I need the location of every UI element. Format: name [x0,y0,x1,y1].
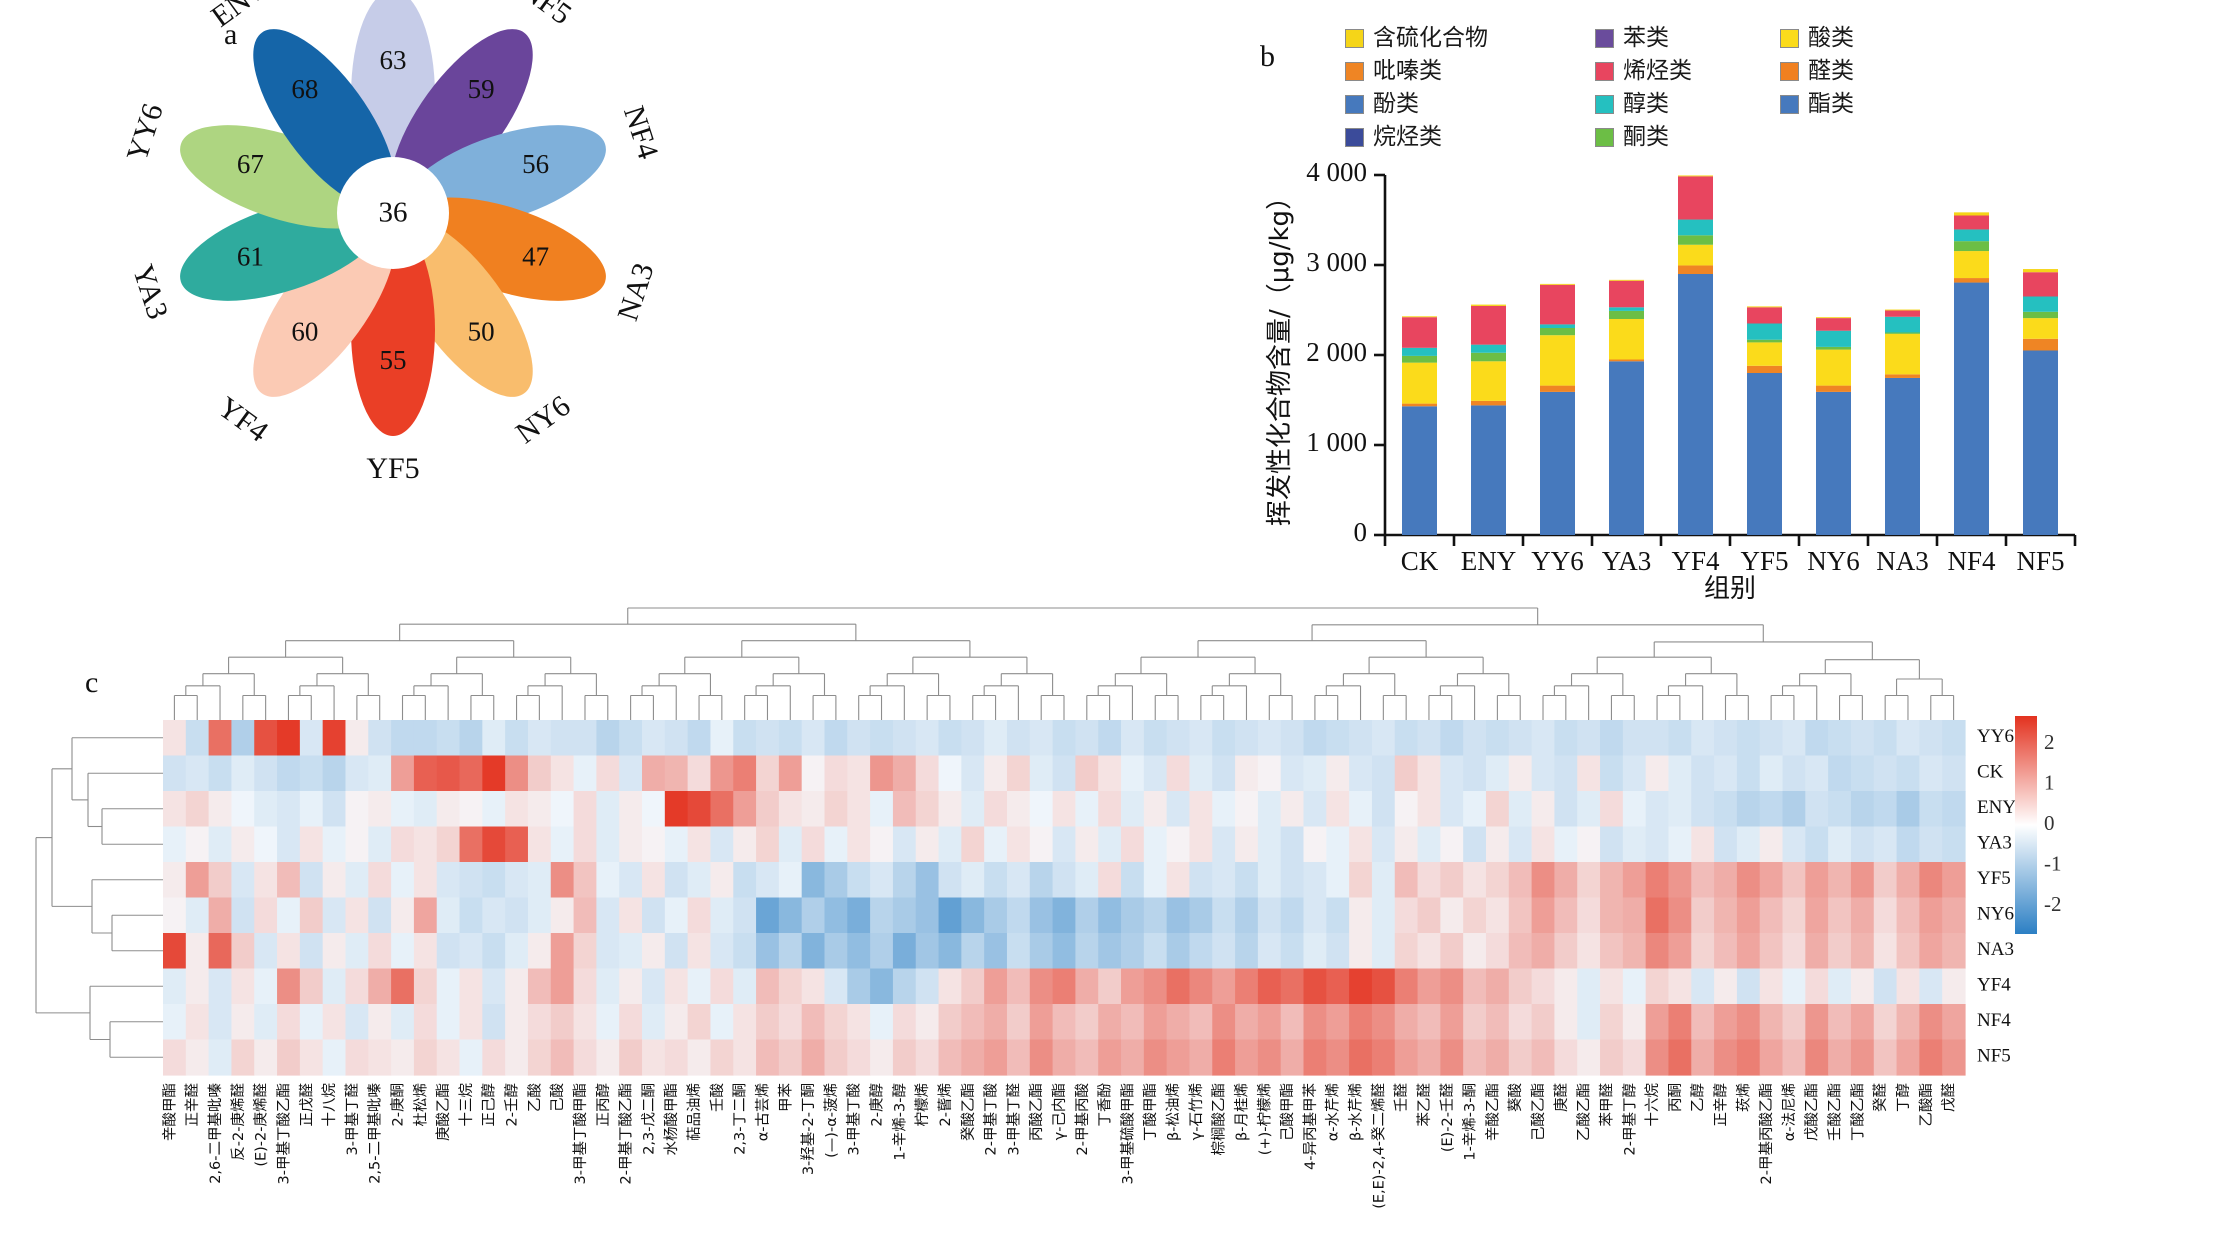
heatmap-cell [1577,1040,1600,1076]
heatmap-row-label: NA3 [1977,939,2014,960]
heatmap-cell [345,1004,368,1040]
heatmap-cell [1121,720,1144,756]
heatmap-cell [1326,969,1349,1005]
heatmap-cell [1440,827,1463,863]
bar-segment[interactable] [1954,283,1989,535]
bar-segment[interactable] [1540,328,1575,335]
bar-segment[interactable] [1816,386,1851,392]
heatmap-cell [1167,791,1190,827]
heatmap-cell [733,898,756,934]
heatmap-cell [1463,756,1486,792]
heatmap-cell [1874,827,1897,863]
heatmap-cell [1783,756,1806,792]
bar-segment[interactable] [1747,342,1782,365]
heatmap-cell [1030,1004,1053,1040]
heatmap-cell [665,827,688,863]
heatmap-cell [1760,827,1783,863]
heatmap-cell [847,933,870,969]
heatmap-cell [596,1040,619,1076]
bar-segment[interactable] [1816,347,1851,350]
bar-segment[interactable] [1747,340,1782,343]
heatmap-cell [916,791,939,827]
bar-segment[interactable] [1402,348,1437,356]
bar-segment[interactable] [1885,374,1920,378]
bar-segment[interactable] [1678,175,1713,176]
heatmap-cell [916,1040,939,1076]
bar-segment[interactable] [1540,392,1575,535]
heatmap-col-label: 丙酸乙酯 [1028,1083,1045,1141]
heatmap-cell [939,898,962,934]
bar-segment[interactable] [1885,310,1920,311]
heatmap-cell [1463,827,1486,863]
heatmap-cell [391,862,414,898]
heatmap-cell [665,862,688,898]
heatmap-cell [1828,756,1851,792]
heatmap-cell [460,720,483,756]
heatmap-cell [1281,1004,1304,1040]
heatmap-cell [802,862,825,898]
bar-segment[interactable] [1678,235,1713,244]
heatmap-cell [1167,862,1190,898]
heatmap-cell [688,791,711,827]
bar-segment[interactable] [1885,310,1920,316]
heatmap-cell [1053,720,1076,756]
heatmap-cell [1532,827,1555,863]
heatmap-cell [186,862,209,898]
heatmap-cell [733,933,756,969]
heatmap-cell [323,1004,346,1040]
heatmap-cell [1600,720,1623,756]
heatmap-cell [1783,1040,1806,1076]
heatmap-cell [1167,898,1190,934]
heatmap-cell [619,720,642,756]
bar-segment[interactable] [1402,406,1437,535]
heatmap-cell [1760,862,1783,898]
heatmap-cell [642,791,665,827]
heatmap-cell [437,933,460,969]
heatmap-cell [642,898,665,934]
bar-segment[interactable] [1609,361,1644,535]
heatmap-col-label: 2-甲基丁酸 [983,1083,1000,1156]
heatmap-cell [505,1040,528,1076]
heatmap-cell [1053,933,1076,969]
bar-segment[interactable] [1402,363,1437,404]
heatmap-col-label: (—)-α-菠烯 [823,1083,840,1158]
heatmap-cell [733,862,756,898]
heatmap-col-label: 萜品油烯 [686,1083,703,1141]
heatmap-cell [1577,862,1600,898]
heatmap-cell [551,791,574,827]
heatmap-cell [779,756,802,792]
heatmap-cell [1372,898,1395,934]
heatmap-cell [1919,1004,1942,1040]
bar-segment[interactable] [2023,269,2058,272]
heatmap-cell [460,933,483,969]
bar-segment[interactable] [1471,306,1506,345]
bar-segment[interactable] [1609,319,1644,360]
heatmap-cell [870,862,893,898]
heatmap-cell [300,791,323,827]
heatmap-cell [323,898,346,934]
bar-segment[interactable] [1540,285,1575,325]
heatmap-cell [505,933,528,969]
bar-segment[interactable] [1540,386,1575,392]
heatmap-col-label: 4-异丙基甲苯 [1302,1083,1319,1170]
heatmap-cell [1395,1004,1418,1040]
heatmap-cell [231,898,254,934]
heatmap-cell [1304,791,1327,827]
heatmap-cell [847,1040,870,1076]
heatmap-cell [596,933,619,969]
heatmap-cell [345,933,368,969]
bar-segment[interactable] [1678,245,1713,266]
heatmap-cell [1919,791,1942,827]
bar-segment[interactable] [1678,220,1713,236]
heatmap-cell [893,756,916,792]
heatmap-cell [1874,898,1897,934]
heatmap-cell [1212,969,1235,1005]
heatmap-cell [1600,1040,1623,1076]
bar-segment[interactable] [1471,345,1506,353]
bar-segment[interactable] [1471,353,1506,362]
heatmap-col-label: 柠檬烯 [914,1083,931,1127]
heatmap-col-label: 3-羟基-2-丁酮 [800,1083,817,1175]
heatmap-cell [642,756,665,792]
heatmap-cell [1760,756,1783,792]
bar-segment[interactable] [1885,333,1920,334]
heatmap-cell [1258,969,1281,1005]
bar-segment[interactable] [2023,339,2058,351]
heatmap-cell [1212,827,1235,863]
bar-segment[interactable] [1678,274,1713,535]
bar-segment[interactable] [1540,284,1575,285]
bar-segment[interactable] [1747,307,1782,323]
petal-count: 68 [291,74,318,104]
heatmap-cell [688,898,711,934]
heatmap-col-label: 庚酸乙酯 [435,1083,452,1141]
heatmap-cell [1783,720,1806,756]
heatmap-cell [939,720,962,756]
heatmap-cell [528,1004,551,1040]
bar-segment[interactable] [1747,306,1782,307]
heatmap-cell [1486,1040,1509,1076]
bar-segment[interactable] [1471,401,1506,406]
heatmap-cell [1942,898,1965,934]
heatmap-cell [824,827,847,863]
heatmap-cell [254,898,277,934]
heatmap-cell [1714,969,1737,1005]
heatmap-cell [779,969,802,1005]
heatmap-cell [1942,1004,1965,1040]
bar-segment[interactable] [2023,318,2058,339]
heatmap-cell [1418,862,1441,898]
heatmap-cell [1600,969,1623,1005]
heatmap-cell [323,933,346,969]
heatmap-col-label: α-法尼烯 [1781,1083,1798,1141]
heatmap-cell [1486,969,1509,1005]
heatmap-cell [1258,1004,1281,1040]
bar-segment[interactable] [2023,297,2058,312]
bar-segment[interactable] [1954,216,1989,230]
heatmap-cell [1144,933,1167,969]
heatmap-col-label: 庚醛 [1553,1083,1570,1112]
heatmap-cell [163,1004,186,1040]
heatmap-cell [1509,827,1532,863]
bar-segment[interactable] [1609,360,1644,362]
heatmap-col-label: 正辛醇 [1712,1083,1729,1127]
bar-segment[interactable] [1954,229,1989,241]
heatmap-cell [368,933,391,969]
heatmap-cell [277,898,300,934]
bar-segment[interactable] [1816,331,1851,347]
bar-segment[interactable] [1540,324,1575,328]
heatmap-cell [1897,756,1920,792]
heatmap-cell [231,720,254,756]
heatmap-cell [1486,791,1509,827]
bar-segment[interactable] [1471,361,1506,401]
heatmap-cell [1760,791,1783,827]
bar-segment[interactable] [1954,251,1989,278]
heatmap-cell [163,720,186,756]
heatmap-cell [756,1040,779,1076]
heatmap-cell [1189,1004,1212,1040]
heatmap-cell [688,1004,711,1040]
bar-segment[interactable] [1402,316,1437,317]
heatmap-cell [1600,827,1623,863]
heatmap-cell [733,1004,756,1040]
heatmap-cell [1783,898,1806,934]
heatmap-cell [505,898,528,934]
petal-label-nf5: NF5 [515,0,578,31]
bar-segment[interactable] [1954,241,1989,251]
heatmap-cell [710,756,733,792]
heatmap-cell [619,1004,642,1040]
heatmap-col-label: 2,3-戊二酮 [640,1083,657,1155]
heatmap-cell [1212,933,1235,969]
heatmap-cell [1646,756,1669,792]
heatmap-cell [1851,969,1874,1005]
heatmap-cell [277,862,300,898]
heatmap-cell [1942,791,1965,827]
heatmap-cell [1167,1040,1190,1076]
heatmap-cell [1281,862,1304,898]
heatmap-cell [665,720,688,756]
heatmap-cell [186,1040,209,1076]
bar-segment[interactable] [1885,378,1920,535]
heatmap-col-label: 丙酮 [1668,1083,1684,1112]
heatmap-cell [1098,1004,1121,1040]
heatmap-cell [984,933,1007,969]
heatmap-cell [277,969,300,1005]
heatmap-cell [186,1004,209,1040]
heatmap-cell [1167,827,1190,863]
bar-segment[interactable] [1609,311,1644,319]
heatmap-col-label: 己酸 [549,1083,566,1113]
x-tick-label: ENY [1461,546,1517,576]
heatmap-cell [1304,1004,1327,1040]
heatmap-cell [437,969,460,1005]
heatmap-cell [368,969,391,1005]
heatmap-cell [1189,791,1212,827]
heatmap-cell [1326,791,1349,827]
heatmap-cell [710,1004,733,1040]
heatmap-cell [1897,933,1920,969]
heatmap-cell [1326,1040,1349,1076]
heatmap-cell [209,720,232,756]
heatmap-cell [1577,898,1600,934]
heatmap-cell [802,720,825,756]
bar-segment[interactable] [1402,317,1437,348]
petal-count: 55 [380,345,407,375]
heatmap-cell [733,791,756,827]
petal-count: 67 [237,149,264,179]
heatmap-cell [163,827,186,863]
bar-segment[interactable] [1816,317,1851,318]
heatmap-cell [1828,862,1851,898]
heatmap-cell [756,1004,779,1040]
heatmap-cell [1714,791,1737,827]
heatmap-cell [1440,1004,1463,1040]
bar-segment[interactable] [2023,312,2058,318]
heatmap-cell [961,791,984,827]
bar-segment[interactable] [1609,307,1644,311]
heatmap-cell [619,933,642,969]
heatmap-cell [1418,791,1441,827]
bar-segment[interactable] [1954,278,1989,283]
heatmap-cell [1783,827,1806,863]
heatmap-cell [824,791,847,827]
heatmap-cell [1075,756,1098,792]
heatmap-cell [1235,1004,1258,1040]
heatmap-cell [1030,791,1053,827]
heatmap-col-label: β-松油烯 [1165,1083,1182,1141]
heatmap-cell [1760,898,1783,934]
heatmap-cell [528,862,551,898]
bar-segment[interactable] [1747,366,1782,373]
heatmap-cell [1372,791,1395,827]
heatmap-cell [756,898,779,934]
heatmap-col-label: 正丙醇 [595,1083,612,1127]
heatmap-cell [1919,720,1942,756]
heatmap-cell [1030,756,1053,792]
bar-segment[interactable] [2023,272,2058,296]
bar-segment[interactable] [1402,356,1437,363]
bar-segment[interactable] [1609,280,1644,281]
bar-segment[interactable] [1954,212,1989,215]
heatmap-cell [277,827,300,863]
heatmap-cell [460,791,483,827]
heatmap-col-label: 3-甲基丁醛 [1005,1083,1022,1156]
heatmap-cell [460,827,483,863]
heatmap-cell [893,827,916,863]
heatmap-cell [1919,933,1942,969]
bar-segment[interactable] [1885,317,1920,333]
bar-segment[interactable] [1816,350,1851,386]
heatmap-cell [1897,720,1920,756]
heatmap-cell [1098,1040,1121,1076]
heatmap-cell [961,720,984,756]
heatmap-cell [437,1004,460,1040]
bar-segment[interactable] [1471,305,1506,306]
heatmap-cell [1349,827,1372,863]
heatmap-cell [688,862,711,898]
heatmap-cell [733,1040,756,1076]
heatmap-cell [1897,791,1920,827]
heatmap-cell [1486,933,1509,969]
bar-segment[interactable] [1816,318,1851,331]
heatmap-cell [1372,933,1395,969]
heatmap-col-label: 己酸乙酯 [1530,1083,1547,1141]
bar-segment[interactable] [1885,334,1920,375]
heatmap-cell [1395,791,1418,827]
heatmap-cell [1851,1040,1874,1076]
x-tick-label: NF5 [2016,546,2064,576]
heatmap-cell [1075,720,1098,756]
heatmap-cell [505,791,528,827]
heatmap-cell [1258,791,1281,827]
bar-segment[interactable] [1609,281,1644,308]
heatmap-cell [1828,898,1851,934]
heatmap-cell [1532,898,1555,934]
heatmap-cell [916,862,939,898]
petal-count: 61 [237,242,264,272]
bar-segment[interactable] [1747,324,1782,340]
heatmap-cell [277,756,300,792]
bar-segment[interactable] [1402,404,1437,407]
heatmap-cell [1805,862,1828,898]
heatmap-cell [1646,898,1669,934]
bar-segment[interactable] [1678,265,1713,274]
heatmap-cell [1030,933,1053,969]
heatmap-cell [574,933,597,969]
bar-segment[interactable] [1540,335,1575,385]
heatmap-cell [1828,1040,1851,1076]
x-tick-label: YF5 [1740,546,1788,576]
heatmap-cell [1783,933,1806,969]
heatmap-cell [1874,933,1897,969]
heatmap-cell [1805,1004,1828,1040]
heatmap-cell [1737,969,1760,1005]
heatmap-cell [1486,898,1509,934]
heatmap-col-label: 2-庚酮 [390,1083,407,1126]
heatmap-cell [1760,969,1783,1005]
heatmap-col-label: α-水芹烯 [1325,1083,1342,1141]
bar-segment[interactable] [1816,392,1851,535]
heatmap-cell [1440,720,1463,756]
heatmap-cell [1600,898,1623,934]
heatmap-cell [1030,1040,1053,1076]
bar-segment[interactable] [2023,351,2058,536]
heatmap-cell [1691,827,1714,863]
heatmap-col-label: α-古芸烯 [754,1083,771,1141]
bar-segment[interactable] [1678,176,1713,219]
heatmap-cell [642,1040,665,1076]
heatmap-col-label: 2-甲基丙酸 [1074,1083,1091,1156]
heatmap-cell [1554,791,1577,827]
heatmap-cell [551,969,574,1005]
heatmap-cell [574,1040,597,1076]
heatmap-cell [642,933,665,969]
bar-segment[interactable] [1747,373,1782,535]
heatmap-col-label: 1-辛烯-3-酮 [1462,1083,1479,1161]
heatmap-cell [1897,1040,1920,1076]
bar-segment[interactable] [1471,405,1506,535]
heatmap-col-label: 壬酸乙酯 [1827,1083,1844,1141]
heatmap-cell [1418,969,1441,1005]
heatmap-cell [1189,898,1212,934]
heatmap-cell [710,898,733,934]
heatmap-cell [551,862,574,898]
